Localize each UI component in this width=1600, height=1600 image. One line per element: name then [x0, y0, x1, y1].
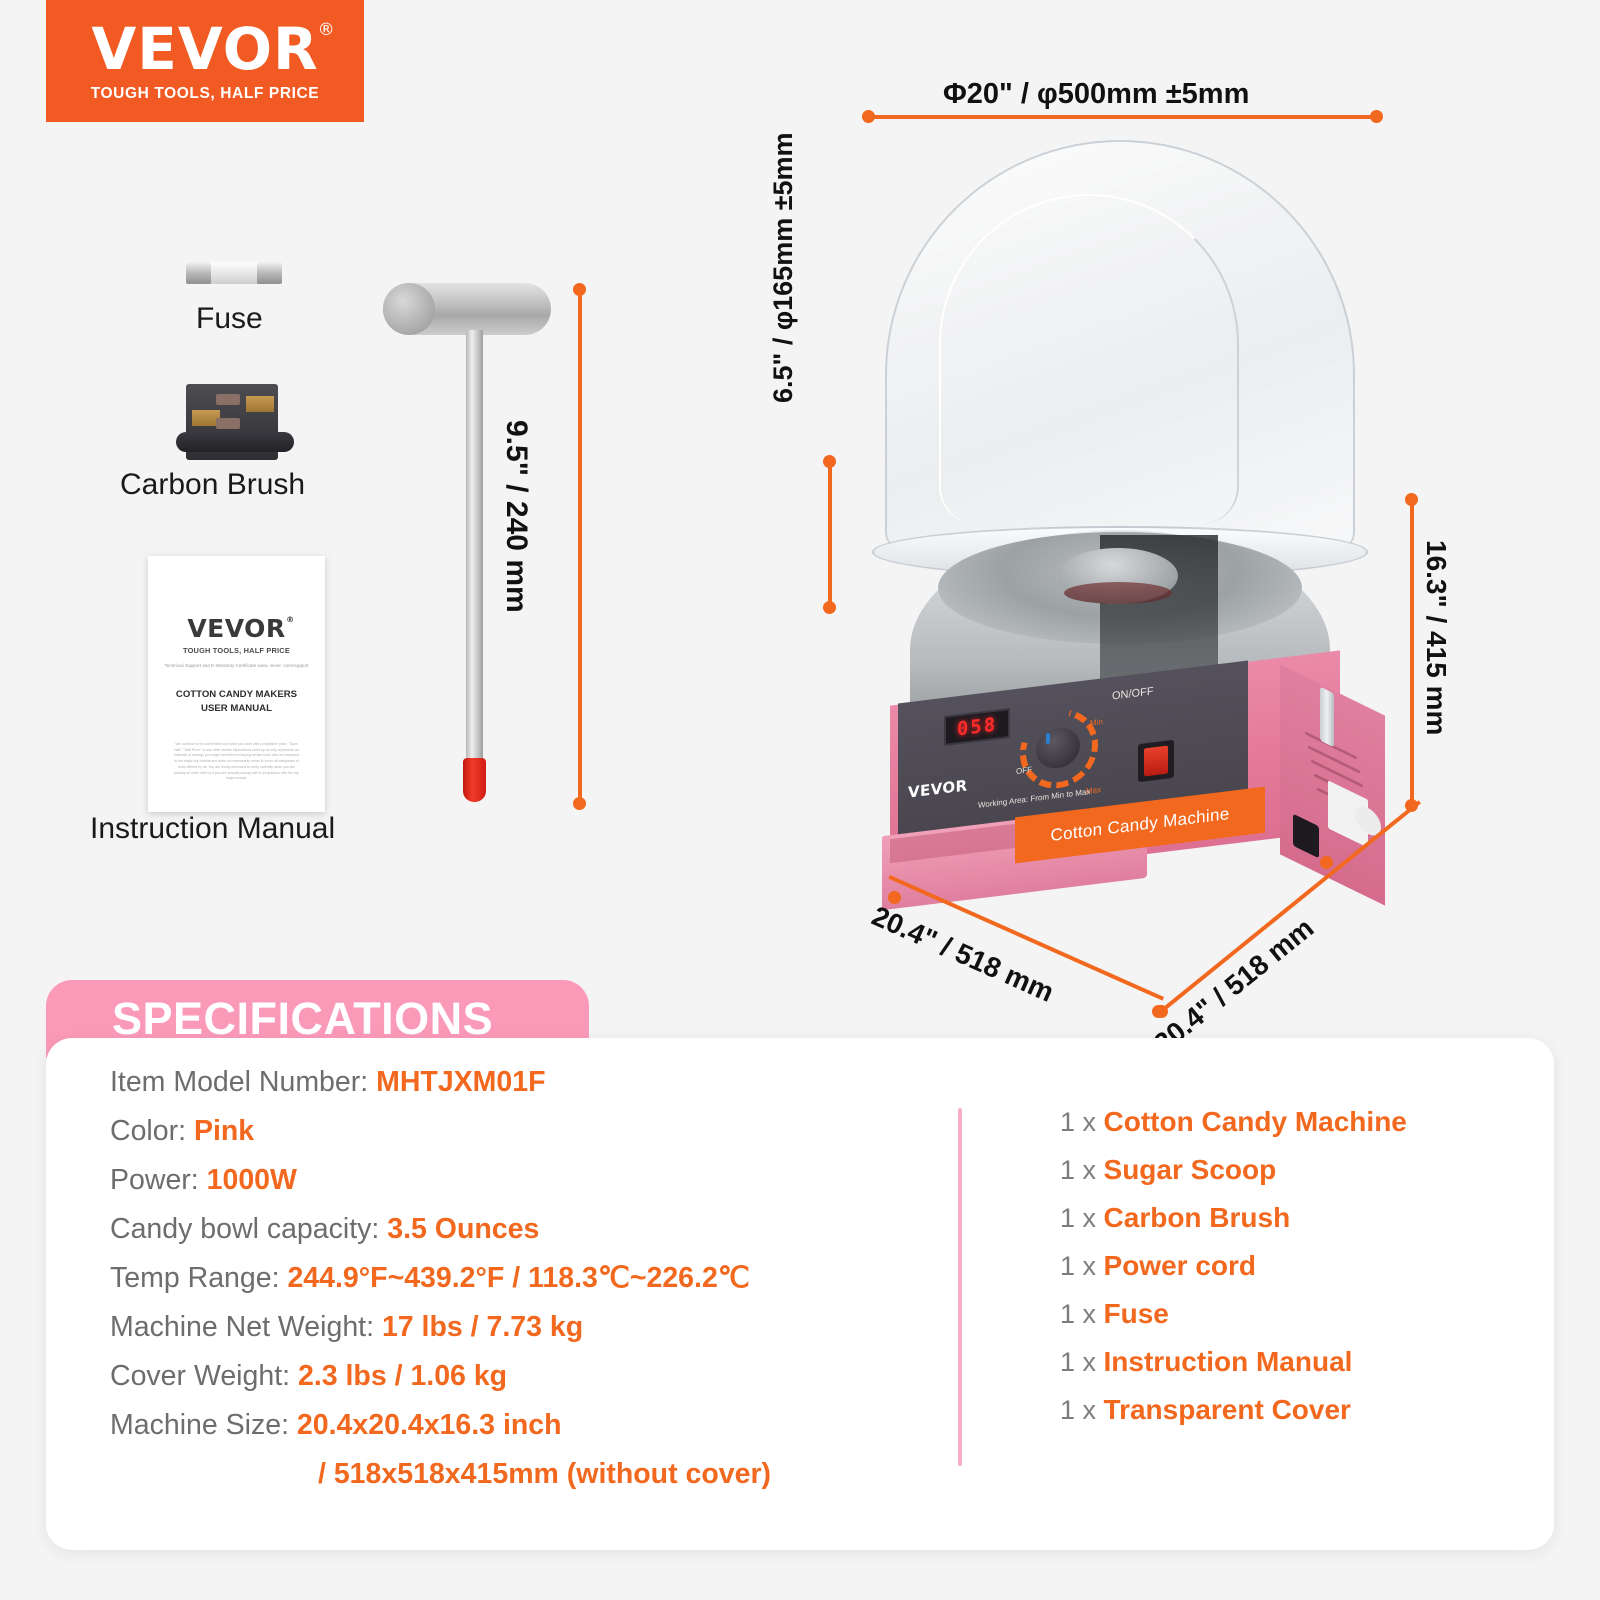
spec-row: Candy bowl capacity: 3.5 Ounces	[110, 1215, 771, 1244]
list-item: 1 x Cotton Candy Machine	[1060, 1108, 1407, 1136]
transparent-cover-dome-icon	[885, 140, 1355, 550]
accessory-label-instruction-manual: Instruction Manual	[90, 812, 335, 846]
scoop-dimension-dot-top	[573, 283, 586, 296]
spec-value: Pink	[194, 1115, 254, 1147]
fuse-cap-left-icon	[186, 262, 211, 284]
carbon-brush-contact-lower-icon	[216, 418, 240, 429]
package-item: Transparent Cover	[1104, 1394, 1351, 1425]
manual-tagline: TOUGH TOOLS, HALF PRICE	[183, 646, 290, 655]
power-switch[interactable]	[1138, 740, 1174, 782]
spec-value: 17 lbs / 7.73 kg	[382, 1311, 583, 1343]
list-item: 1 x Carbon Brush	[1060, 1204, 1407, 1232]
bowl-diameter-label: 6.5" / φ165mm ±5mm	[768, 132, 799, 403]
accessory-label-fuse: Fuse	[196, 302, 263, 336]
knob-label-min: Min	[1090, 717, 1103, 728]
cover-diameter-dot-right	[1370, 110, 1383, 123]
manual-logo-text: VEVOR	[187, 614, 285, 643]
machine-height-label: 16.3" / 415 mm	[1420, 540, 1452, 735]
package-qty: 1 x	[1060, 1347, 1104, 1377]
spec-row: Item Model Number: MHTJXM01F	[110, 1068, 771, 1097]
list-item: 1 x Sugar Scoop	[1060, 1156, 1407, 1184]
cotton-candy-machine-image: 058 OFF Min Max Working Area: From Min t…	[850, 130, 1410, 950]
base-depth-dot-end	[1320, 856, 1333, 869]
spec-label: Machine Size:	[110, 1409, 297, 1441]
spec-value: 2.3 lbs / 1.06 kg	[298, 1360, 507, 1392]
spec-row-continuation: / 518x518x415mm (without cover)	[318, 1460, 771, 1489]
cover-diameter-line	[868, 115, 1378, 119]
temperature-display-value: 058	[957, 714, 997, 741]
spec-row: Cover Weight: 2.3 lbs / 1.06 kg	[110, 1362, 771, 1391]
package-item: Instruction Manual	[1104, 1346, 1353, 1377]
sugar-scoop-tip-icon	[463, 758, 486, 802]
registered-mark-icon: ®	[318, 22, 336, 39]
package-item: Fuse	[1104, 1298, 1169, 1329]
spinner-heating-ring	[1064, 582, 1172, 604]
list-item: 1 x Instruction Manual	[1060, 1348, 1407, 1376]
package-item: Sugar Scoop	[1104, 1154, 1277, 1185]
manual-title-line1: COTTON CANDY MAKERS	[176, 688, 297, 702]
list-item: 1 x Fuse	[1060, 1300, 1407, 1328]
package-contents-list: 1 x Cotton Candy Machine 1 x Sugar Scoop…	[1060, 1108, 1407, 1444]
vevor-logo: VEVOR ® TOUGH TOOLS, HALF PRICE	[46, 0, 364, 122]
manual-paragraph: We continue to be committed to provide y…	[174, 742, 300, 782]
bowl-diameter-line	[828, 460, 832, 608]
bowl-diameter-text: 6.5" / φ165mm ±5mm	[768, 132, 799, 403]
package-item: Power cord	[1104, 1250, 1256, 1281]
scoop-length-label: 9.5" / 240 mm	[499, 420, 533, 613]
power-switch-rocker-icon	[1144, 746, 1168, 777]
carbon-brush-terminal-right-icon	[246, 396, 274, 412]
accessory-label-carbon-brush: Carbon Brush	[120, 468, 305, 502]
spec-row: Color: Pink	[110, 1117, 771, 1146]
section-divider	[958, 1108, 962, 1466]
dome-highlight	[939, 194, 1239, 524]
spec-label: Temp Range:	[110, 1262, 287, 1294]
package-qty: 1 x	[1060, 1395, 1104, 1425]
spec-row: Power: 1000W	[110, 1166, 771, 1195]
spec-value: 20.4x20.4x16.3 inch	[297, 1409, 562, 1441]
product-name-band-text: Cotton Candy Machine	[1051, 804, 1230, 846]
vevor-logo-wordmark: VEVOR ®	[91, 20, 318, 78]
package-qty: 1 x	[1060, 1299, 1104, 1329]
spec-value: 3.5 Ounces	[387, 1213, 539, 1245]
cover-diameter-label: Φ20" / φ500mm ±5mm	[943, 78, 1249, 111]
bowl-handle-icon	[1320, 687, 1334, 748]
vevor-logo-tagline: TOUGH TOOLS, HALF PRICE	[91, 85, 320, 103]
package-qty: 1 x	[1060, 1107, 1104, 1137]
vevor-logo-text: VEVOR	[91, 15, 318, 83]
spec-row: Machine Net Weight: 17 lbs / 7.73 kg	[110, 1313, 771, 1342]
base-width-dot-start	[888, 891, 901, 904]
package-qty: 1 x	[1060, 1155, 1104, 1185]
list-item: 1 x Transparent Cover	[1060, 1396, 1407, 1424]
list-item: 1 x Power cord	[1060, 1252, 1407, 1280]
machine-height-line	[1410, 498, 1414, 806]
carbon-brush-contact-upper-icon	[216, 394, 240, 405]
manual-registered-icon: ®	[286, 615, 295, 624]
spec-label: Power:	[110, 1164, 207, 1196]
spec-value: MHTJXM01F	[376, 1066, 545, 1098]
carbon-brush-base-icon	[176, 432, 294, 452]
spec-value: / 518x518x415mm (without cover)	[318, 1458, 771, 1490]
bowl-diameter-dot-top	[823, 455, 836, 468]
fuse-cap-right-icon	[257, 262, 282, 284]
scoop-dimension-line	[578, 288, 582, 804]
spec-row: Machine Size: 20.4x20.4x16.3 inch	[110, 1411, 771, 1440]
spec-label: Candy bowl capacity:	[110, 1213, 387, 1245]
manual-icon: VEVOR® TOUGH TOOLS, HALF PRICE Technical…	[148, 556, 325, 812]
manual-title: COTTON CANDY MAKERS USER MANUAL	[176, 688, 297, 716]
spec-row: Temp Range: 244.9°F~439.2°F / 118.3℃~226…	[110, 1264, 771, 1293]
package-item: Cotton Candy Machine	[1104, 1106, 1407, 1137]
machine-height-dot-top	[1405, 493, 1418, 506]
spec-value: 1000W	[207, 1164, 297, 1196]
spec-label: Cover Weight:	[110, 1360, 298, 1392]
package-qty: 1 x	[1060, 1203, 1104, 1233]
package-qty: 1 x	[1060, 1251, 1104, 1281]
spec-label: Item Model Number:	[110, 1066, 376, 1098]
spec-value: 244.9°F~439.2°F / 118.3℃~226.2℃	[287, 1262, 749, 1294]
spec-label: Color:	[110, 1115, 194, 1147]
manual-support-line: Technical Support and E-Warranty Certifi…	[164, 663, 308, 668]
cover-diameter-dot-left	[862, 110, 875, 123]
spec-label: Machine Net Weight:	[110, 1311, 382, 1343]
specifications-list: Item Model Number: MHTJXM01F Color: Pink…	[110, 1068, 771, 1509]
bowl-diameter-dot-bottom	[823, 601, 836, 614]
knob-pointer-icon	[1046, 733, 1050, 744]
sugar-scoop-shaft-icon	[466, 330, 483, 770]
sugar-scoop-cap-icon	[383, 283, 435, 335]
manual-logo: VEVOR®	[187, 614, 285, 643]
manual-title-line2: USER MANUAL	[176, 702, 297, 716]
package-item: Carbon Brush	[1104, 1202, 1291, 1233]
scoop-dimension-dot-bottom	[573, 797, 586, 810]
